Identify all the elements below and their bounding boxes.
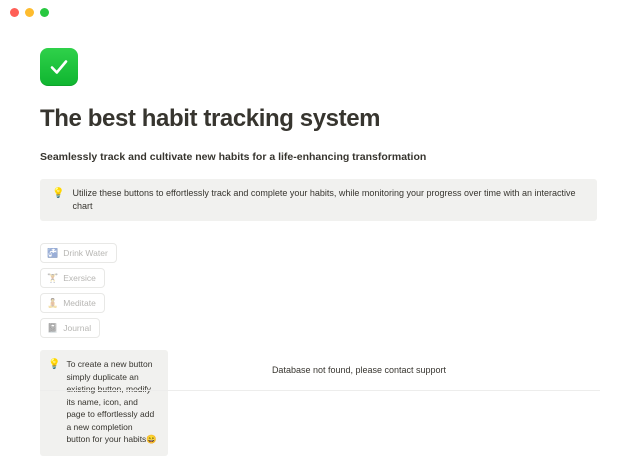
light-bulb-icon: 💡 (48, 358, 60, 371)
habit-button-label: Exersice (63, 272, 96, 284)
light-bulb-icon: 💡 (52, 187, 64, 200)
lower-section: 💡 To create a new button simply duplicat… (40, 350, 600, 456)
close-button[interactable] (10, 8, 19, 17)
page-content: The best habit tracking system Seamlessl… (0, 48, 640, 456)
exercise-icon: 🏋️ (47, 272, 58, 284)
page-title: The best habit tracking system (40, 104, 600, 134)
window-controls (10, 8, 49, 17)
water-drop-icon: 🚰 (47, 247, 58, 259)
habit-button-label: Drink Water (63, 247, 108, 259)
window-titlebar (0, 0, 640, 24)
page-subtitle: Seamlessly track and cultivate new habit… (40, 150, 600, 165)
info-callout-text: Utilize these buttons to effortlessly tr… (72, 187, 585, 213)
habit-button-label: Journal (63, 322, 91, 334)
minimize-button[interactable] (25, 8, 34, 17)
meditate-icon: 🧘 (47, 297, 58, 309)
database-error-message: Database not found, please contact suppo… (168, 350, 600, 377)
tip-callout: 💡 To create a new button simply duplicat… (40, 350, 168, 456)
habit-button-journal[interactable]: 📓 Journal (40, 318, 100, 338)
habit-button-list: 🚰 Drink Water 🏋️ Exersice 🧘 Meditate 📓 J… (40, 243, 600, 338)
habit-button-exersice[interactable]: 🏋️ Exersice (40, 268, 105, 288)
zoom-button[interactable] (40, 8, 49, 17)
habit-button-meditate[interactable]: 🧘 Meditate (40, 293, 105, 313)
habit-button-label: Meditate (63, 297, 96, 309)
journal-icon: 📓 (47, 322, 58, 334)
page-icon-check-mark[interactable] (40, 48, 78, 86)
habit-button-drink-water[interactable]: 🚰 Drink Water (40, 243, 117, 263)
page-divider (40, 390, 600, 391)
tip-callout-text: To create a new button simply duplicate … (66, 358, 158, 446)
info-callout: 💡 Utilize these buttons to effortlessly … (40, 179, 597, 221)
